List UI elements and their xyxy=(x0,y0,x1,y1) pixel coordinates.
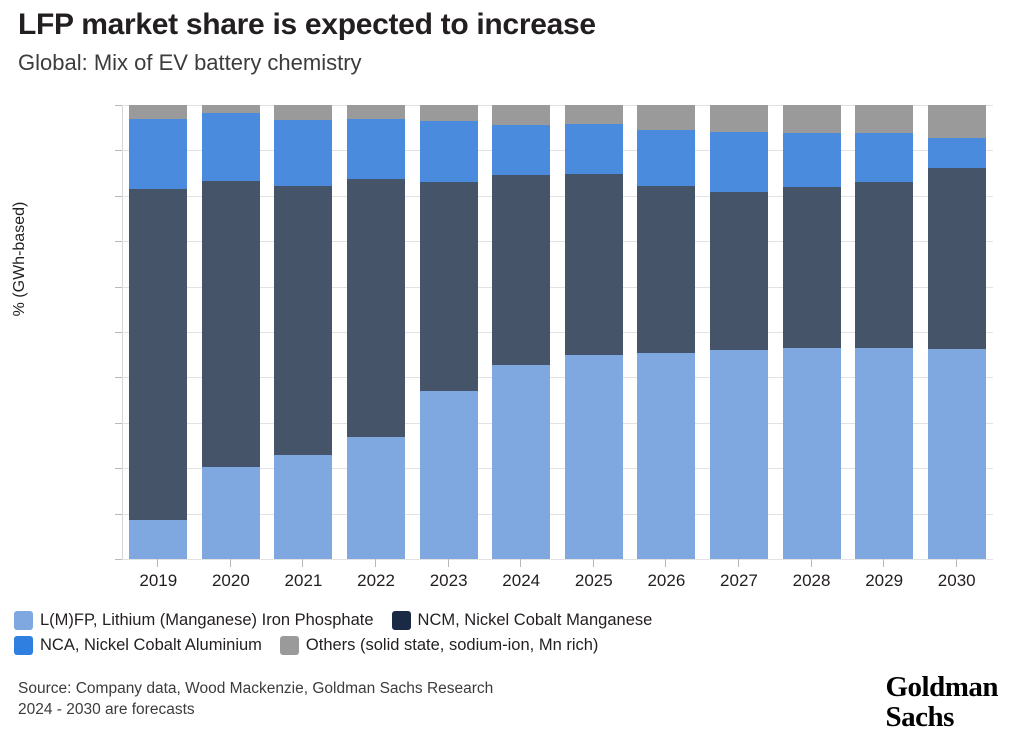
bar-segment-ncm[interactable] xyxy=(710,192,768,350)
bar-segment-others[interactable] xyxy=(347,105,405,119)
y-tick-mark xyxy=(115,423,122,424)
chart-page: LFP market share is expected to increase… xyxy=(0,0,1024,755)
gridline xyxy=(122,559,993,560)
x-tick-label: 2029 xyxy=(844,571,924,591)
bar-segment-ncm[interactable] xyxy=(274,186,332,455)
x-tick-label: 2024 xyxy=(481,571,561,591)
x-tick-mark xyxy=(738,559,739,567)
y-tick-mark xyxy=(115,468,122,469)
bar-segment-others[interactable] xyxy=(710,105,768,132)
y-tick-mark xyxy=(115,377,122,378)
bar-segment-ncm[interactable] xyxy=(928,168,986,349)
x-tick-mark xyxy=(302,559,303,567)
y-tick-mark xyxy=(115,105,122,106)
bar-segment-nca[interactable] xyxy=(492,125,550,175)
legend-row-2: NCA, Nickel Cobalt Aluminium Others (sol… xyxy=(14,633,914,658)
legend-item-nca[interactable]: NCA, Nickel Cobalt Aluminium xyxy=(14,636,262,655)
bar-segment-nca[interactable] xyxy=(129,119,187,189)
bar-segment-others[interactable] xyxy=(274,105,332,120)
forecast-note: 2024 - 2030 are forecasts xyxy=(18,699,493,720)
legend-item-ncm[interactable]: NCM, Nickel Cobalt Manganese xyxy=(392,611,653,630)
x-tick-label: 2021 xyxy=(263,571,343,591)
bar-segment-nca[interactable] xyxy=(710,132,768,192)
y-tick-mark xyxy=(115,332,122,333)
x-tick-mark xyxy=(883,559,884,567)
legend-label-nca: NCA, Nickel Cobalt Aluminium xyxy=(40,636,262,655)
x-tick-mark xyxy=(448,559,449,567)
bar-segment-ncm[interactable] xyxy=(492,175,550,364)
bar-segment-ncm[interactable] xyxy=(202,181,260,467)
source-block: Source: Company data, Wood Mackenzie, Go… xyxy=(18,678,493,720)
bar-segment-lfp[interactable] xyxy=(492,365,550,559)
bar-group[interactable]: 2020 xyxy=(202,105,260,559)
bar-segment-lfp[interactable] xyxy=(274,455,332,559)
bar-group[interactable]: 2027 xyxy=(710,105,768,559)
bar-segment-lfp[interactable] xyxy=(129,520,187,559)
bar-group[interactable]: 2028 xyxy=(783,105,841,559)
x-tick-mark xyxy=(157,559,158,567)
x-tick-label: 2028 xyxy=(772,571,852,591)
bar-segment-lfp[interactable] xyxy=(565,355,623,559)
legend-item-others[interactable]: Others (solid state, sodium-ion, Mn rich… xyxy=(280,636,599,655)
bar-segment-nca[interactable] xyxy=(637,130,695,186)
bar-segment-lfp[interactable] xyxy=(637,353,695,559)
bar-segment-others[interactable] xyxy=(129,105,187,119)
y-tick-mark xyxy=(115,241,122,242)
x-tick-label: 2025 xyxy=(554,571,634,591)
bar-segment-lfp[interactable] xyxy=(710,350,768,559)
x-tick-label: 2026 xyxy=(626,571,706,591)
x-tick-mark xyxy=(375,559,376,567)
bar-segment-nca[interactable] xyxy=(928,138,986,168)
x-tick-mark xyxy=(520,559,521,567)
legend-swatch-ncm xyxy=(392,611,411,630)
x-tick-label: 2019 xyxy=(118,571,198,591)
bar-segment-lfp[interactable] xyxy=(855,348,913,559)
y-axis-title: % (GWh-based) xyxy=(11,89,29,429)
bar-segment-ncm[interactable] xyxy=(637,186,695,353)
bar-group[interactable]: 2024 xyxy=(492,105,550,559)
y-tick-mark xyxy=(115,287,122,288)
x-tick-label: 2022 xyxy=(336,571,416,591)
bar-group[interactable]: 2022 xyxy=(347,105,405,559)
bar-segment-nca[interactable] xyxy=(565,124,623,173)
bar-segment-others[interactable] xyxy=(637,105,695,130)
plot-area: 0%10%20%30%40%50%60%70%80%90%100%2019202… xyxy=(122,105,993,559)
x-tick-label: 2020 xyxy=(191,571,271,591)
bar-segment-lfp[interactable] xyxy=(420,391,478,559)
bar-segment-others[interactable] xyxy=(565,105,623,124)
legend-label-ncm: NCM, Nickel Cobalt Manganese xyxy=(418,611,653,630)
bar-group[interactable]: 2019 xyxy=(129,105,187,559)
chart-plot-wrapper: % (GWh-based) 0%10%20%30%40%50%60%70%80%… xyxy=(0,0,1024,600)
x-tick-label: 2030 xyxy=(917,571,997,591)
legend-swatch-nca xyxy=(14,636,33,655)
bar-segment-others[interactable] xyxy=(492,105,550,125)
bar-group[interactable]: 2021 xyxy=(274,105,332,559)
bar-group[interactable]: 2026 xyxy=(637,105,695,559)
bar-segment-nca[interactable] xyxy=(783,133,841,187)
bar-segment-nca[interactable] xyxy=(347,119,405,179)
logo-line-goldman: Goldman xyxy=(885,672,998,702)
legend-swatch-others xyxy=(280,636,299,655)
bar-segment-ncm[interactable] xyxy=(347,179,405,437)
bar-segment-lfp[interactable] xyxy=(928,349,986,559)
bar-group[interactable]: 2023 xyxy=(420,105,478,559)
chart-legend: L(M)FP, Lithium (Manganese) Iron Phospha… xyxy=(14,608,914,658)
bar-segment-ncm[interactable] xyxy=(565,174,623,356)
x-tick-mark xyxy=(593,559,594,567)
bar-segment-lfp[interactable] xyxy=(347,437,405,559)
y-tick-mark xyxy=(115,150,122,151)
y-tick-mark xyxy=(115,196,122,197)
legend-item-lfp[interactable]: L(M)FP, Lithium (Manganese) Iron Phospha… xyxy=(14,611,374,630)
bar-segment-nca[interactable] xyxy=(420,121,478,182)
bar-group[interactable]: 2030 xyxy=(928,105,986,559)
source-text: Source: Company data, Wood Mackenzie, Go… xyxy=(18,678,493,699)
y-tick-mark xyxy=(115,559,122,560)
bar-group[interactable]: 2025 xyxy=(565,105,623,559)
bar-segment-others[interactable] xyxy=(420,105,478,121)
bar-segment-ncm[interactable] xyxy=(420,182,478,391)
legend-label-lfp: L(M)FP, Lithium (Manganese) Iron Phospha… xyxy=(40,611,374,630)
bar-segment-lfp[interactable] xyxy=(783,348,841,559)
logo-line-sachs: Sachs xyxy=(885,702,998,732)
bar-segment-nca[interactable] xyxy=(274,120,332,186)
bar-segment-nca[interactable] xyxy=(855,133,913,182)
bar-segment-ncm[interactable] xyxy=(783,187,841,348)
legend-swatch-lfp xyxy=(14,611,33,630)
x-tick-label: 2027 xyxy=(699,571,779,591)
bar-segment-others[interactable] xyxy=(202,105,260,113)
bar-group[interactable]: 2029 xyxy=(855,105,913,559)
x-tick-mark xyxy=(665,559,666,567)
x-tick-mark xyxy=(956,559,957,567)
legend-row-1: L(M)FP, Lithium (Manganese) Iron Phospha… xyxy=(14,608,914,633)
bar-segment-others[interactable] xyxy=(928,105,986,138)
bar-segment-ncm[interactable] xyxy=(129,189,187,520)
goldman-sachs-logo: Goldman Sachs xyxy=(885,672,998,732)
x-tick-label: 2023 xyxy=(409,571,489,591)
bar-segment-nca[interactable] xyxy=(202,113,260,181)
bar-segment-others[interactable] xyxy=(855,105,913,133)
bar-segment-others[interactable] xyxy=(783,105,841,133)
bar-segment-ncm[interactable] xyxy=(855,182,913,348)
legend-label-others: Others (solid state, sodium-ion, Mn rich… xyxy=(306,636,599,655)
y-tick-mark xyxy=(115,514,122,515)
x-tick-mark xyxy=(230,559,231,567)
x-tick-mark xyxy=(811,559,812,567)
bar-segment-lfp[interactable] xyxy=(202,467,260,559)
